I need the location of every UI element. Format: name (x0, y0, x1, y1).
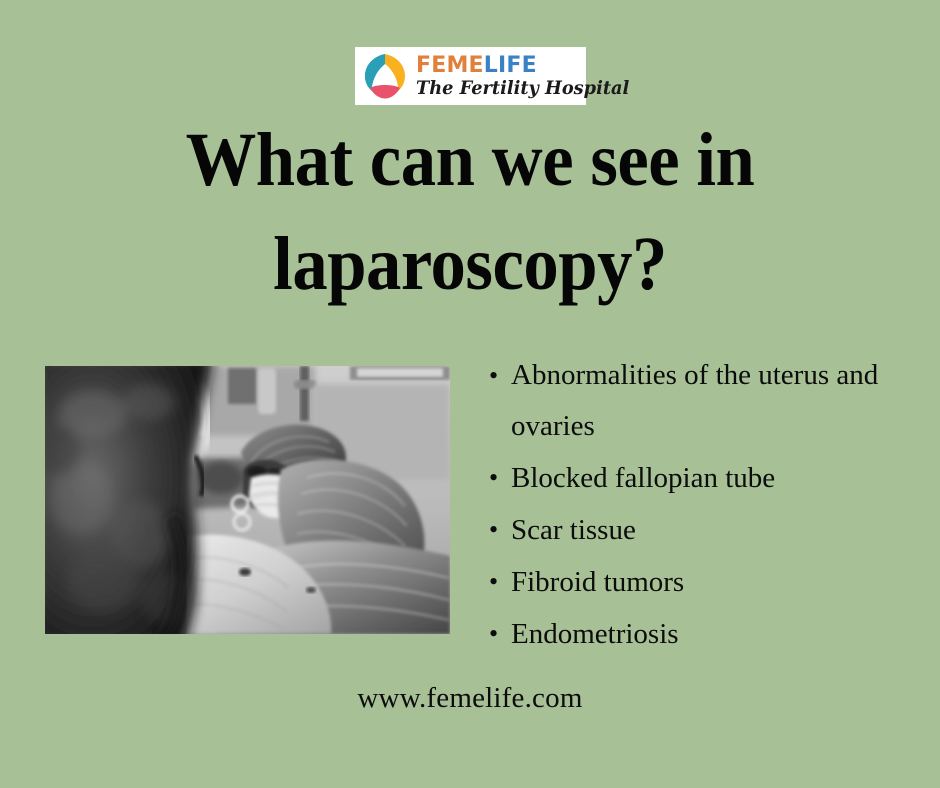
brand-logo[interactable]: FEMELIFE The Fertility Hospital (355, 47, 586, 105)
surgery-photo-graphic (45, 366, 450, 634)
femelife-trefoil-logo-icon (360, 51, 410, 101)
list-item: Scar tissue (487, 504, 907, 556)
logo-wordmark: FEMELIFE (416, 54, 638, 77)
list-item: Fibroid tumors (487, 556, 907, 608)
page-title: What can we see in laparoscopy? (0, 108, 940, 316)
list-item: Endometriosis (487, 608, 907, 660)
footer: www.femelife.com (0, 682, 940, 715)
findings-list: Abnormalities of the uterus and ovaries … (487, 350, 907, 660)
logo-wordmark-group: FEMELIFE The Fertility Hospital (416, 53, 638, 99)
website-url[interactable]: www.femelife.com (357, 682, 582, 715)
page-title-line-1: What can we see in (33, 108, 907, 212)
list-item: Abnormalities of the uterus and ovaries (487, 350, 907, 452)
logo-wordmark-life: LIFE (484, 53, 537, 78)
logo-tagline: The Fertility Hospital (416, 79, 629, 98)
poster-canvas: FEMELIFE The Fertility Hospital What can… (0, 0, 940, 788)
page-title-line-2: laparoscopy? (33, 212, 907, 316)
logo-wordmark-feme: FEME (416, 53, 484, 78)
list-item: Blocked fallopian tube (487, 452, 907, 504)
laparoscopy-surgery-photo (45, 366, 450, 634)
